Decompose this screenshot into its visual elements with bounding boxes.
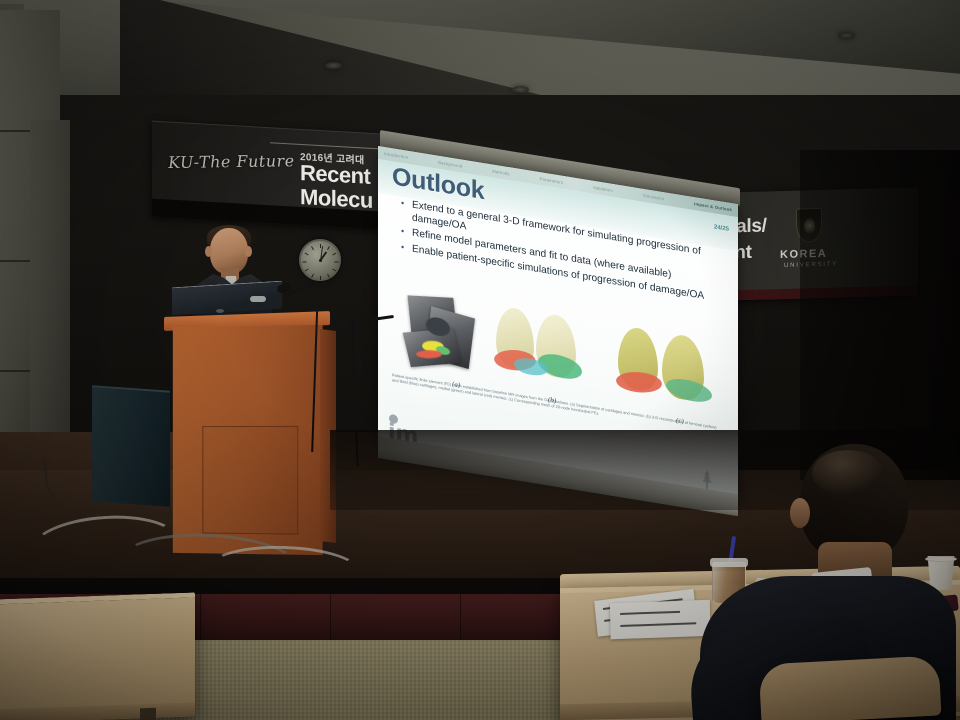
projection-screen-assembly: Introduction Background Methods Paramete… <box>378 136 746 454</box>
clock-tick <box>335 262 339 263</box>
fe-mesh-medial-meniscus <box>665 375 713 406</box>
figure-panel-b: (b) <box>492 300 608 405</box>
downlight-icon <box>838 32 855 39</box>
downlight-icon <box>512 86 529 93</box>
clock-tick <box>332 269 336 272</box>
nav-item-validation: Validation <box>593 185 613 193</box>
right-wall-shadow <box>800 150 960 480</box>
clock-tick <box>311 274 314 278</box>
paper-text-line <box>620 622 696 627</box>
skirt-panel-seam <box>200 594 201 646</box>
finite-element-mesh-model <box>616 325 730 421</box>
nav-item-parameters: Parameters <box>539 176 563 185</box>
mri-segmentation-montage <box>406 293 480 381</box>
nav-item-methods: Methods <box>492 168 509 176</box>
knee-reconstruction-model <box>492 304 608 401</box>
figure-panel-c: (c) <box>616 321 730 425</box>
laptop-hinge <box>216 309 224 313</box>
wall-clock <box>299 239 341 281</box>
skirt-panel-seam <box>330 594 331 646</box>
wall-column <box>30 120 70 480</box>
clock-tick <box>327 246 330 250</box>
conference-banner-left: KU-The Future 2016년 고려대 Recent Molecu <box>152 121 414 232</box>
nav-item-background: Background <box>438 160 462 169</box>
laptop-brand-badge <box>250 296 266 302</box>
nav-item-simulation: Simulation <box>643 193 665 201</box>
paper-text-line <box>620 611 680 615</box>
clock-tick <box>327 274 330 278</box>
downlight-icon <box>325 62 342 69</box>
clock-tick <box>311 246 314 250</box>
clock-tick <box>305 253 309 256</box>
clock-center-pin <box>319 259 322 262</box>
attendee-hair-highlight <box>812 450 884 496</box>
microphone-pole <box>311 290 319 452</box>
presenter-ear <box>205 246 212 257</box>
presenter-laptop[interactable] <box>172 284 282 316</box>
chair-backrest <box>759 655 942 720</box>
desk-leg <box>140 708 156 720</box>
ku-script-logo: KU-The Future <box>167 151 295 172</box>
skirt-panel-seam <box>460 594 461 646</box>
clock-tick <box>320 276 321 280</box>
figure-panel-a: (a) <box>392 284 488 386</box>
presenter-ear <box>245 246 252 257</box>
clock-tick <box>303 262 307 263</box>
clock-tick <box>332 253 336 256</box>
attendee-ear <box>790 498 810 528</box>
nav-item-introduction: Introduction <box>384 151 408 160</box>
clock-tick <box>305 269 309 272</box>
lecture-hall-photo: KU-The Future 2016년 고려대 Recent Molecu ri… <box>0 0 960 720</box>
audience-desk-left <box>0 592 195 720</box>
desk-edge <box>0 702 195 720</box>
